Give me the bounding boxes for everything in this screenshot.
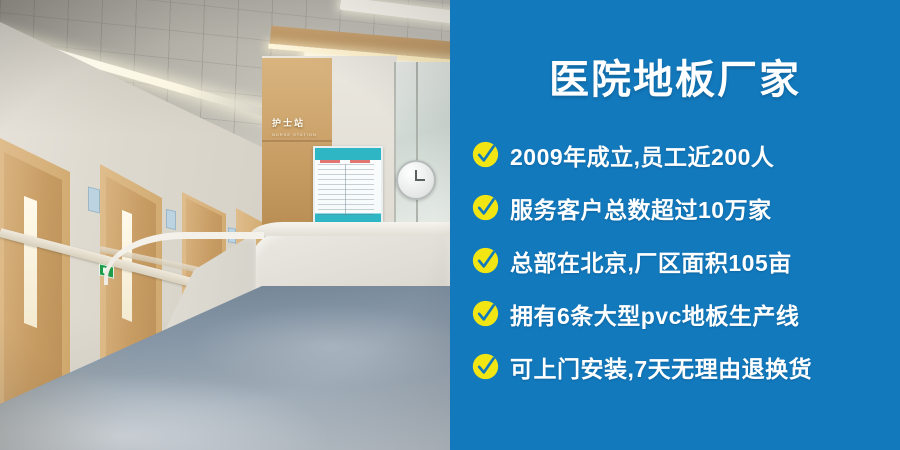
counter-top-edge	[250, 222, 450, 236]
list-item: 总部在北京,厂区面积105亩	[472, 234, 890, 287]
check-circle-icon	[472, 194, 499, 221]
nurse-station-sign: 护士站 NURSE STATION	[272, 118, 324, 144]
room-sign-icon	[166, 209, 176, 230]
check-circle-icon	[472, 353, 499, 380]
check-circle-icon	[472, 141, 499, 168]
poster-column-divider	[345, 164, 346, 216]
poster-heading-bar	[350, 160, 370, 163]
hospital-corridor-photo: 护士站 NURSE STATION	[0, 0, 450, 450]
poster-text-lines	[318, 164, 374, 216]
list-item: 服务客户总数超过10万家	[472, 181, 890, 234]
check-circle-icon	[472, 300, 499, 327]
nurse-station-sign-label: 护士站	[272, 118, 305, 128]
check-circle-icon	[472, 247, 499, 274]
feature-text: 拥有6条大型pvc地板生产线	[510, 297, 799, 331]
list-item: 2009年成立,员工近200人	[472, 128, 890, 181]
promo-banner: 护士站 NURSE STATION 医院地板厂家 2009年成立,员工近2	[0, 0, 900, 450]
list-item: 拥有6条大型pvc地板生产线	[472, 287, 890, 340]
door-vision-panel	[24, 196, 37, 328]
poster-heading-bar	[320, 160, 340, 163]
wall-clock-icon	[396, 160, 436, 200]
page-title: 医院地板厂家	[450, 58, 900, 102]
feature-text: 可上门安装,7天无理由退换货	[510, 350, 812, 384]
feature-list: 2009年成立,员工近200人 服务客户总数超过10万家 总部在北京,厂区面积1…	[450, 128, 900, 393]
feature-text: 2009年成立,员工近200人	[510, 138, 774, 172]
feature-text: 总部在北京,厂区面积105亩	[510, 244, 792, 278]
feature-text: 服务客户总数超过10万家	[510, 191, 772, 225]
info-panel: 医院地板厂家 2009年成立,员工近200人 服务客户总数超过10万家	[450, 0, 900, 450]
room-sign-icon	[88, 187, 100, 214]
nurse-station-sign-sublabel: NURSE STATION	[272, 129, 324, 140]
list-item: 可上门安装,7天无理由退换货	[472, 340, 890, 393]
